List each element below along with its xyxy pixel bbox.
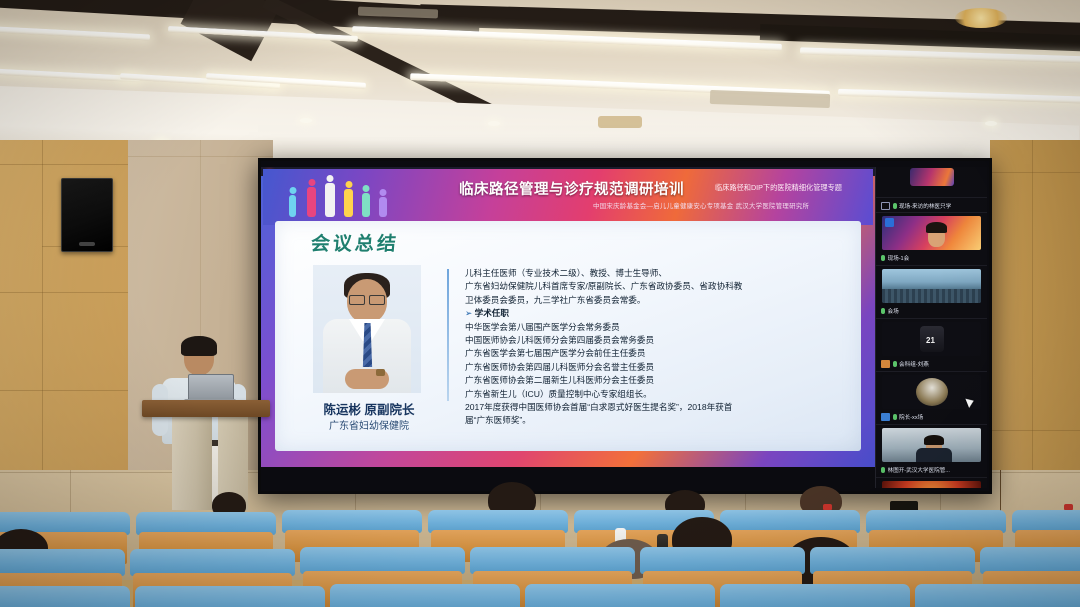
participant-video [882, 481, 981, 488]
participant-name: 院长-xx场 [899, 413, 923, 421]
bio-line: 儿科主任医师（专业技术二级）、教授、博士生导师、 [465, 267, 847, 280]
slide-divider [447, 269, 449, 401]
slide-body: 会议总结 陈运彬 原副院长 [275, 221, 861, 451]
speaker-affiliation: 广东省妇幼保健院 [305, 417, 433, 432]
participant-tile[interactable]: 林图开-武汉大学医院管... [876, 425, 987, 478]
warm-ceiling-light [955, 8, 1007, 28]
slide-banner-title: 临床路径管理与诊疗规范调研培训 [459, 178, 684, 199]
participant-tile[interactable]: 会参information-张海玉 [876, 478, 987, 488]
ceiling-downlight [985, 121, 997, 126]
bio-position: 广东省医师协会第四届儿科医师分会名誉主任委员 [465, 361, 847, 374]
camera-icon [881, 202, 890, 210]
participant-video: 21 [882, 322, 981, 356]
portrait-glasses-icon [349, 295, 365, 305]
video-suit [916, 448, 952, 462]
laptop-screen [188, 374, 234, 402]
participant-video [882, 375, 981, 409]
video-hair [924, 435, 944, 445]
ceiling-downlight [962, 151, 974, 156]
participant-caption: 现场-来访的林医只学 [881, 200, 984, 211]
participant-name: 林图开-武汉大学医院管... [888, 466, 950, 474]
ceiling-light-strip [0, 26, 150, 41]
seat-cushion [525, 584, 715, 607]
panel-seam [0, 390, 130, 391]
bio-section-header: ➢ 学术任职 [465, 307, 847, 320]
bio-position: 广东省医学会第七届围产医学分会前任主任委员 [465, 347, 847, 360]
bio-position: 中国医师协会儿科医师分会第四届委员会常务委员 [465, 334, 847, 347]
video-badge [885, 218, 894, 227]
bio-position: 广东省医师协会第二届新生儿科医师分会主任委员 [465, 374, 847, 387]
bio-position: 中华医学会第八届围产医学分会常务委员 [465, 321, 847, 334]
speaker-portrait [313, 265, 421, 393]
auditorium-seat [135, 586, 325, 607]
led-display-screen: 会议中 临床路径管理与诊疗规范调研培训 临床路径和DIP下 [258, 158, 992, 494]
camera-icon [881, 413, 890, 421]
participant-caption: 院长-xx场 [881, 411, 984, 422]
microphone-icon [893, 361, 897, 367]
speaker-podium [142, 400, 270, 510]
microphone-icon [893, 414, 897, 420]
panel-seam [990, 430, 1080, 431]
panel-seam [990, 172, 1080, 173]
camera-icon [881, 360, 890, 368]
ceiling-downlight [300, 118, 312, 123]
presenter-hair [181, 336, 217, 356]
participant-tile[interactable] [876, 167, 987, 198]
panel-seam [128, 156, 273, 157]
portrait-glasses-icon [369, 295, 385, 305]
participant-name: 现场-1会 [888, 254, 910, 262]
auditorium-seat [915, 584, 1080, 607]
participant-caption: 会场 [881, 305, 984, 316]
participant-tile[interactable]: 现场-来访的林医只学 [876, 198, 987, 213]
presentation-slide: 临床路径管理与诊疗规范调研培训 临床路径和DIP下的医院精细化管理专题 中国宋庆… [263, 169, 873, 457]
participant-caption: 会科组-刘燕 [881, 358, 984, 369]
participant-tile[interactable]: 21 会科组-刘燕 [876, 319, 987, 372]
bio-section-label: 学术任职 [475, 308, 509, 318]
seat-cushion [330, 584, 520, 607]
shared-screen-area: 会议中 临床路径管理与诊疗规范调研培训 临床路径和DIP下 [261, 167, 875, 467]
ceiling-light-strip [838, 89, 1080, 104]
ceiling-vent-patch [598, 116, 642, 128]
podium-column [172, 416, 212, 510]
participant-video [882, 428, 981, 462]
ceiling-light-strip [0, 68, 140, 82]
panel-seam [0, 164, 130, 165]
auditorium-seat [0, 586, 130, 607]
panel-seam [0, 292, 130, 293]
participant-video [882, 269, 981, 303]
avatar-initials: 21 [926, 336, 935, 345]
ceiling-downlight [488, 121, 500, 126]
participant-caption: 现场-1会 [881, 252, 984, 263]
screen-content: 会议中 临床路径管理与诊疗规范调研培训 临床路径和DIP下 [261, 161, 989, 491]
seat-cushion [720, 584, 910, 607]
video-hair [926, 222, 947, 233]
kids-logo-illustration [285, 175, 415, 221]
bio-line: 广东省妇幼保健院儿科首席专家/原副院长、广东省政协委员、省政协科教 [465, 280, 847, 293]
speaker-bio-block: 儿科主任医师（专业技术二级）、教授、博士生导师、 广东省妇幼保健院儿科首席专家/… [465, 267, 847, 428]
auditorium-seat [330, 584, 520, 607]
participant-video [882, 216, 981, 250]
participant-thumbnail [910, 168, 954, 186]
conference-room-photo: 会议中 临床路径管理与诊疗规范调研培训 临床路径和DIP下 [0, 0, 1080, 607]
participant-avatar [916, 378, 948, 406]
bio-award: 2017年度获得中国医师协会首届“白求恩式好医生提名奖”，2018年获首 [465, 401, 847, 414]
wall-speaker [61, 178, 113, 252]
participant-name: 现场-来访的林医只学 [899, 202, 951, 210]
seat-cushion [0, 586, 130, 607]
bio-position: 广东省新生儿（ICU）质量控制中心专家组组长。 [465, 388, 847, 401]
microphone-icon [893, 203, 897, 209]
speaker-name: 陈运彬 原副院长 [309, 399, 429, 418]
microphone-icon [881, 308, 885, 314]
auditorium-seat [720, 584, 910, 607]
participant-tile[interactable]: 现场-1会 [876, 213, 987, 266]
auditorium-seat [525, 584, 715, 607]
participant-tile[interactable]: 会场 [876, 266, 987, 319]
slide-banner-organizers: 中国宋庆龄基金会—启儿儿童健康安心专项基金 武汉大学医院管理研究所 [593, 201, 809, 210]
participant-caption: 林图开-武汉大学医院管... [881, 464, 984, 475]
portrait-wristwatch [376, 369, 385, 376]
participant-rail[interactable]: 现场-来访的林医只学 现场-1会 [875, 167, 987, 488]
ceiling-vent [710, 90, 830, 108]
video-crowd [882, 289, 981, 303]
seat-cushion [915, 584, 1080, 607]
participant-name: 会场 [888, 307, 899, 315]
bio-line: 卫体委员会委员，九三学社广东省委员会常委。 [465, 294, 847, 307]
slide-banner-subtitle: 临床路径和DIP下的医院精细化管理专题 [715, 183, 842, 193]
seat-cushion [135, 586, 325, 607]
slide-banner: 临床路径管理与诊疗规范调研培训 临床路径和DIP下的医院精细化管理专题 中国宋庆… [263, 169, 873, 225]
participant-name: 会科组-刘燕 [899, 360, 929, 368]
bio-award: 届“广东医师奖”。 [465, 414, 847, 427]
bullet-arrow-icon: ➢ [465, 308, 472, 318]
microphone-icon [881, 467, 885, 473]
slide-heading: 会议总结 [310, 229, 400, 256]
microphone-icon [881, 255, 885, 261]
podium-desktop [142, 400, 270, 417]
